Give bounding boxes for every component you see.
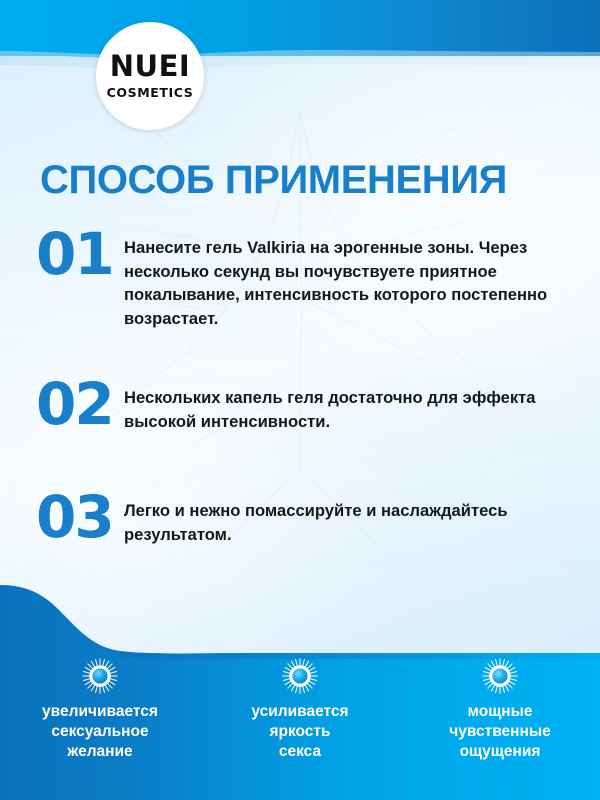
step-item: 03 Легко и нежно помассируйте и наслажда…: [36, 495, 576, 546]
brand-logo: NUEI COSMETICS: [96, 22, 204, 130]
steps-list: 01 Нанесите гель Valkiria на эрогенные з…: [36, 232, 576, 569]
benefit-label: увеличивается сексуальное желание: [42, 702, 158, 762]
logo-wordmark: NUEI: [110, 52, 190, 81]
benefit-item: мощные чувственные ощущения: [405, 658, 595, 762]
step-item: 01 Нанесите гель Valkiria на эрогенные з…: [36, 232, 576, 330]
sunburst-icon: [282, 658, 318, 694]
benefit-label: усиливается яркость секса: [251, 702, 348, 762]
step-text: Легко и нежно помассируйте и наслаждайте…: [124, 495, 576, 546]
step-text: Нанесите гель Valkiria на эрогенные зоны…: [124, 232, 576, 330]
benefits-row: увеличивается сексуальное желание: [0, 650, 600, 800]
benefit-item: увеличивается сексуальное желание: [5, 658, 195, 762]
page-title: СПОСОБ ПРИМЕНЕНИЯ: [40, 158, 580, 203]
step-number: 02: [36, 378, 124, 431]
logo-tagline: COSMETICS: [107, 87, 194, 100]
step-item: 02 Нескольких капель геля достаточно для…: [36, 382, 576, 433]
step-number: 01: [36, 228, 124, 281]
sunburst-icon: [482, 658, 518, 694]
benefit-item: усиливается яркость секса: [205, 658, 395, 762]
header-band: [0, 0, 600, 160]
poster-root: NUEI COSMETICS СПОСОБ ПРИМЕНЕНИЯ 01 Нане…: [0, 0, 600, 800]
step-number: 03: [36, 491, 124, 544]
step-text: Нескольких капель геля достаточно для эф…: [124, 382, 576, 433]
benefit-label: мощные чувственные ощущения: [449, 702, 551, 762]
sunburst-icon: [82, 658, 118, 694]
